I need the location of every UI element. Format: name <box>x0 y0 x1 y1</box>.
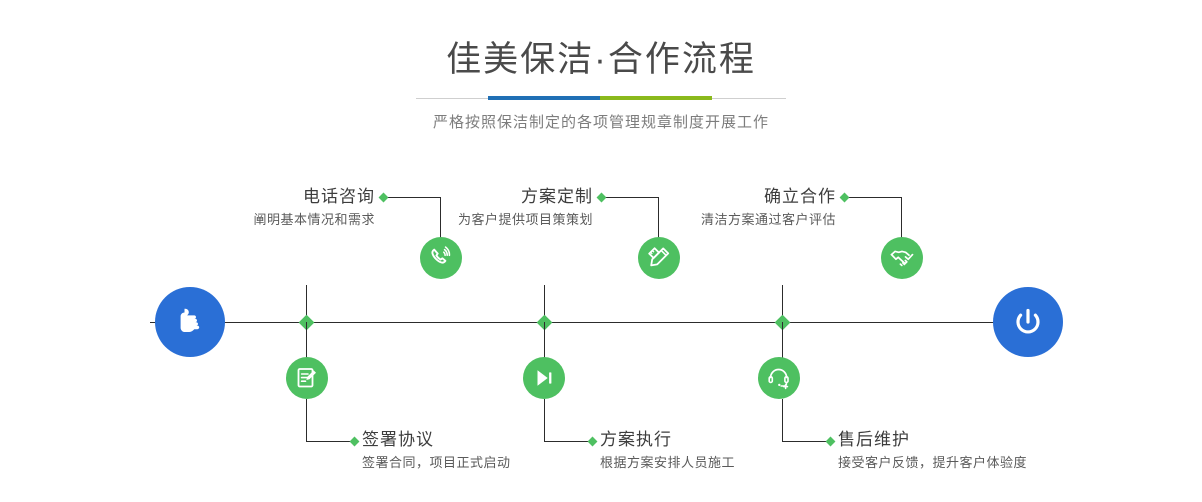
play-execute-icon <box>531 365 557 391</box>
label-marker-2 <box>350 437 360 447</box>
step-title-2: 签署协议 <box>362 429 622 451</box>
document-edit-icon <box>294 365 320 391</box>
divider-segment-green <box>600 96 712 100</box>
step-desc-3: 为客户提供项目策策划 <box>340 210 593 230</box>
connector-vertical-6 <box>782 322 783 360</box>
step-title-4: 方案执行 <box>600 429 860 451</box>
title-divider <box>416 96 786 100</box>
divider-segment-blue <box>488 96 600 100</box>
connector-vertical-4 <box>544 322 545 360</box>
step-desc-2: 签署合同，项目正式启动 <box>362 453 622 473</box>
step-label-3: 方案定制 为客户提供项目策策划 <box>340 186 593 230</box>
timeline-axis <box>150 322 1052 323</box>
step-desc-1: 阐明基本情况和需求 <box>120 210 375 230</box>
pointing-hand-icon <box>170 302 210 342</box>
step-desc-4: 根据方案安排人员施工 <box>600 453 860 473</box>
connector-vertical-5b <box>901 197 902 239</box>
label-marker-5 <box>840 193 850 203</box>
step-icon-4 <box>523 357 565 399</box>
step-label-2: 签署协议 签署合同，项目正式启动 <box>362 429 622 473</box>
header: 佳美保洁·合作流程 严格按照保洁制定的各项管理规章制度开展工作 <box>0 0 1202 133</box>
step-icon-6 <box>758 357 800 399</box>
step-icon-5 <box>881 237 923 279</box>
handshake-icon <box>889 245 915 271</box>
connector-vertical-4b <box>544 399 545 441</box>
timeline-start-node <box>155 287 225 357</box>
pencil-ruler-icon <box>646 245 672 271</box>
step-title-3: 方案定制 <box>340 186 593 208</box>
step-label-5: 确立合作 清洁方案通过客户评估 <box>580 186 836 230</box>
step-label-6: 售后维护 接受客户反馈，提升客户体验度 <box>838 429 1118 473</box>
step-icon-2 <box>286 357 328 399</box>
step-desc-5: 清洁方案通过客户评估 <box>580 210 836 230</box>
step-desc-6: 接受客户反馈，提升客户体验度 <box>838 453 1118 473</box>
connector-vertical-6b <box>782 399 783 441</box>
phone-call-icon <box>428 245 454 271</box>
page-subtitle: 严格按照保洁制定的各项管理规章制度开展工作 <box>0 113 1202 133</box>
step-title-1: 电话咨询 <box>120 186 375 208</box>
connector-horizontal-5 <box>846 197 902 198</box>
step-icon-1 <box>420 237 462 279</box>
connector-vertical-2b <box>306 399 307 441</box>
step-label-4: 方案执行 根据方案安排人员施工 <box>600 429 860 473</box>
step-icon-3 <box>638 237 680 279</box>
step-title-6: 售后维护 <box>838 429 1118 451</box>
power-icon <box>1008 302 1048 342</box>
headset-support-icon <box>766 365 792 391</box>
connector-vertical-2 <box>306 322 307 360</box>
process-flow-infographic: 佳美保洁·合作流程 严格按照保洁制定的各项管理规章制度开展工作 <box>0 0 1202 502</box>
page-title: 佳美保洁·合作流程 <box>0 40 1202 80</box>
step-title-5: 确立合作 <box>580 186 836 208</box>
step-label-1: 电话咨询 阐明基本情况和需求 <box>120 186 375 230</box>
timeline-end-node <box>993 287 1063 357</box>
